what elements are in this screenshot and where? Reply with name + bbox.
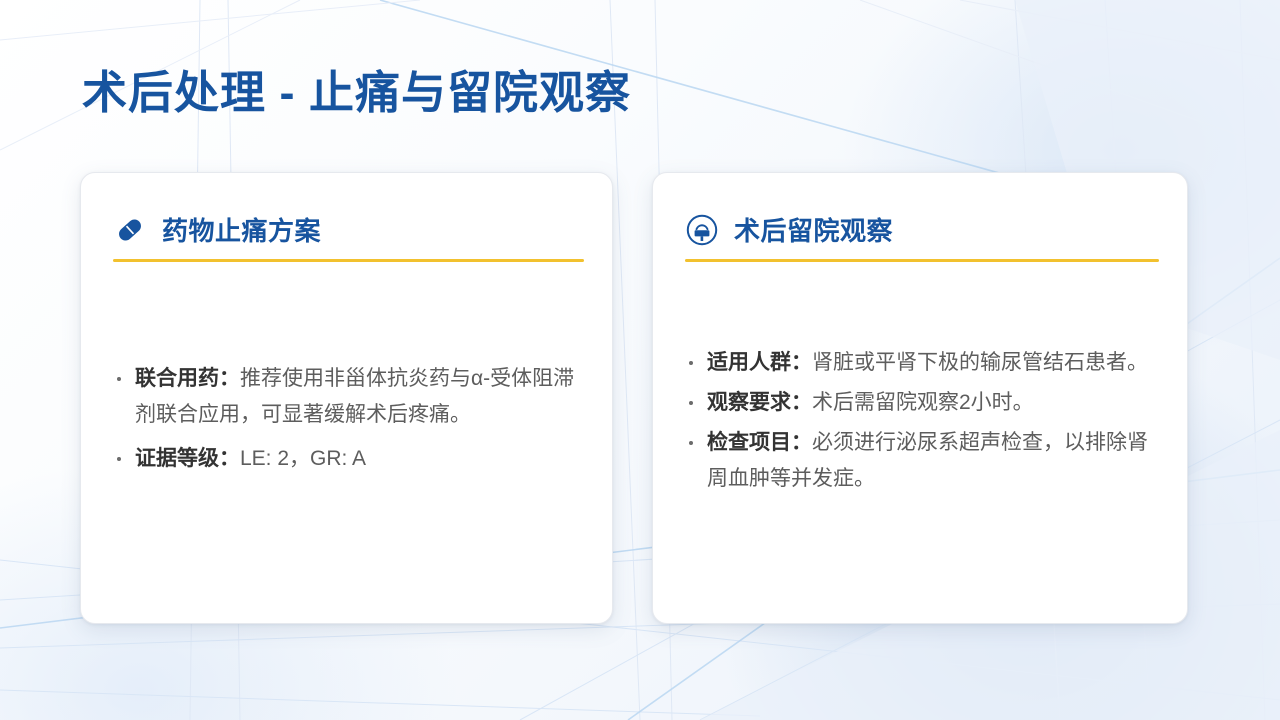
bullet-label: 证据等级：	[135, 447, 240, 470]
card-divider	[113, 259, 584, 262]
list-item: 检查项目：必须进行泌尿系超声检查，以排除肾周血肿等并发症。	[683, 425, 1159, 497]
slide-canvas: 术后处理 - 止痛与留院观察 药物止痛方案 联合用药：推荐使用非甾体抗炎药与α-…	[0, 0, 1280, 720]
list-item: 联合用药：推荐使用非甾体抗炎药与α-受体阻滞剂联合应用，可显著缓解术后疼痛。	[111, 361, 584, 433]
card-header: 药物止痛方案	[113, 211, 321, 248]
card-medication-pain-plan: 药物止痛方案 联合用药：推荐使用非甾体抗炎药与α-受体阻滞剂联合应用，可显著缓解…	[80, 172, 613, 624]
bullet-list: 适用人群：肾脏或平肾下极的输尿管结石患者。 观察要求：术后需留院观察2小时。 检…	[683, 345, 1159, 497]
bullet-label: 联合用药：	[135, 367, 240, 390]
list-item: 观察要求：术后需留院观察2小时。	[683, 385, 1159, 421]
bullet-text: 术后需留院观察2小时。	[812, 391, 1034, 414]
list-item: 证据等级：LE: 2，GR: A	[111, 441, 584, 477]
pill-icon	[113, 213, 147, 247]
card-title: 药物止痛方案	[162, 211, 321, 248]
list-item: 适用人群：肾脏或平肾下极的输尿管结石患者。	[683, 345, 1159, 381]
bullet-label: 检查项目：	[707, 431, 812, 454]
card-divider	[685, 259, 1159, 262]
card-body: 联合用药：推荐使用非甾体抗炎药与α-受体阻滞剂联合应用，可显著缓解术后疼痛。 证…	[111, 361, 584, 477]
page-title: 术后处理 - 止痛与留院观察	[82, 56, 631, 121]
card-header: 术后留院观察	[685, 211, 893, 248]
bullet-text: 肾脏或平肾下极的输尿管结石患者。	[812, 351, 1148, 374]
bullet-text: LE: 2，GR: A	[240, 447, 366, 470]
card-title: 术后留院观察	[734, 211, 893, 248]
bullet-label: 适用人群：	[707, 351, 812, 374]
bullet-label: 观察要求：	[707, 391, 812, 414]
hospital-bed-icon	[685, 213, 719, 247]
card-body: 适用人群：肾脏或平肾下极的输尿管结石患者。 观察要求：术后需留院观察2小时。 检…	[683, 345, 1159, 501]
card-postop-observation: 术后留院观察 适用人群：肾脏或平肾下极的输尿管结石患者。 观察要求：术后需留院观…	[652, 172, 1188, 624]
bullet-list: 联合用药：推荐使用非甾体抗炎药与α-受体阻滞剂联合应用，可显著缓解术后疼痛。 证…	[111, 361, 584, 477]
